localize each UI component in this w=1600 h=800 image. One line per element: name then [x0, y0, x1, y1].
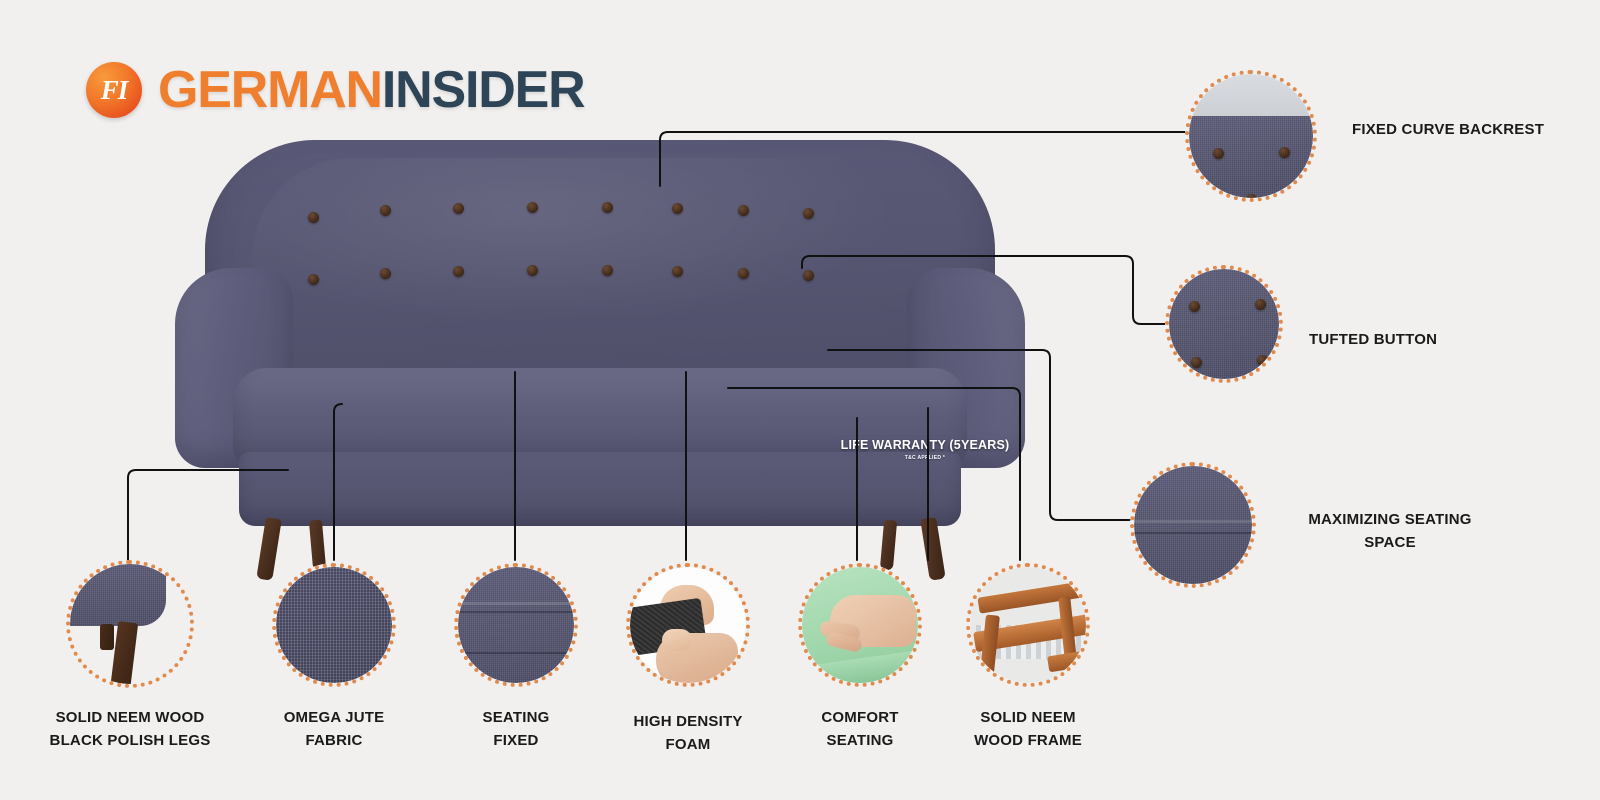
- tufted-button: [308, 274, 319, 285]
- logo-badge-text: FI: [101, 77, 128, 104]
- tufted-button: [527, 265, 538, 276]
- tufted-button: [527, 202, 538, 213]
- sofa-leg: [920, 517, 946, 581]
- brand-name-insider: INSIDER: [382, 61, 585, 119]
- callout-image-seating-fixed: [454, 563, 578, 687]
- tufted-button: [672, 203, 683, 214]
- tufted-button: [803, 208, 814, 219]
- seat-surface-closeup-image: [1134, 466, 1252, 584]
- callout-image-tufted-button: [1165, 265, 1283, 383]
- callout-image-comfort-seating: [798, 563, 922, 687]
- product-sofa-image: LIFE WARRANTY (5YEARS) T&C APPLIED *: [175, 140, 1025, 570]
- tufted-button: [803, 270, 814, 281]
- feature-label-fixed-curve-backrest: FIXED CURVE BACKREST: [1352, 118, 1544, 141]
- hand-squeezing-black-foam-image: [630, 567, 746, 683]
- brand-name-german: GERMAN: [158, 61, 382, 119]
- callout-image-fixed-curve-backrest: [1185, 70, 1317, 202]
- sofa-base: [239, 452, 961, 526]
- brand-wordmark: GERMANINSIDER: [158, 64, 584, 116]
- sofa-leg: [256, 517, 282, 581]
- callout-image-maximizing-seating-space: [1130, 462, 1256, 588]
- logo-badge-icon: FI: [86, 62, 142, 118]
- wooden-frame-with-springs-image: [970, 567, 1086, 683]
- feature-label-omega-jute-fabric: OMEGA JUTE FABRIC: [234, 706, 434, 753]
- infographic-canvas: FI GERMANINSIDER LIFE WARRAN: [0, 0, 1600, 800]
- fixed-seating-closeup-image: [458, 567, 574, 683]
- tufted-button: [453, 266, 464, 277]
- feature-label-tufted-button: TUFTED BUTTON: [1309, 328, 1437, 351]
- sofa-seat-cushion: [233, 368, 967, 464]
- tufted-button: [380, 205, 391, 216]
- feature-label-high-density-foam: HIGH DENSITY FOAM: [588, 710, 788, 757]
- feature-label-seating-fixed: SEATING FIXED: [416, 706, 616, 753]
- callout-image-solid-neem-wood-black-polish-legs: [66, 560, 194, 688]
- brand-logo: FI GERMANINSIDER: [86, 62, 584, 118]
- tufted-button: [738, 268, 749, 279]
- tufted-button: [453, 203, 464, 214]
- tufted-button: [602, 265, 613, 276]
- backrest-closeup-image: [1189, 74, 1313, 198]
- jute-fabric-weave-image: [276, 567, 392, 683]
- callout-image-solid-neem-wood-frame: [966, 563, 1090, 687]
- tufted-button: [738, 205, 749, 216]
- tufted-button: [672, 266, 683, 277]
- hand-pressing-green-foam-image: [802, 567, 918, 683]
- sofa-leg-closeup-image: [70, 564, 190, 684]
- feature-label-solid-neem-wood-black-polish-legs: SOLID NEEM WOOD BLACK POLISH LEGS: [20, 706, 240, 753]
- tufted-button: [308, 212, 319, 223]
- feature-label-maximizing-seating-space: MAXIMIZING SEATING SPACE: [1278, 508, 1502, 555]
- tufted-button-closeup-image: [1169, 269, 1279, 379]
- tufted-button: [602, 202, 613, 213]
- sofa-leg: [880, 520, 897, 571]
- feature-label-solid-neem-wood-frame: SOLID NEEM WOOD FRAME: [928, 706, 1128, 753]
- callout-image-omega-jute-fabric: [272, 563, 396, 687]
- tufted-button: [380, 268, 391, 279]
- callout-image-high-density-foam: [626, 563, 750, 687]
